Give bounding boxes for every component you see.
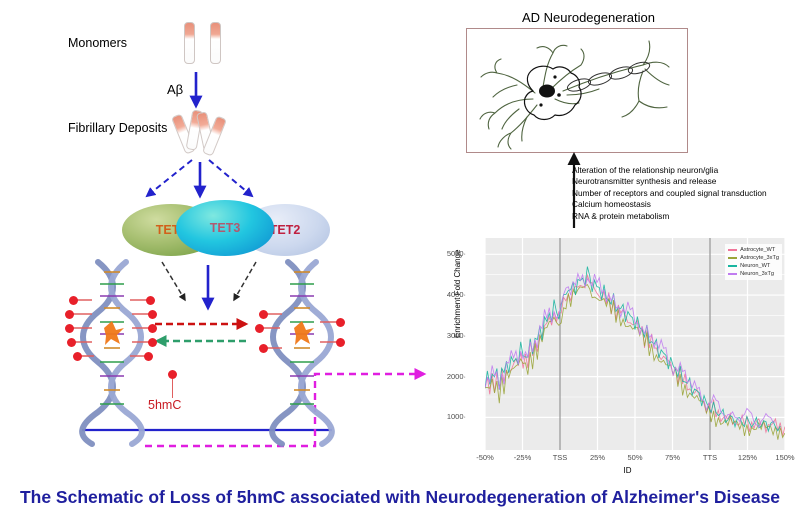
- y-tick-label: 2000·: [447, 372, 466, 381]
- fibril-to-tet2-arrow: [209, 160, 252, 196]
- y-tick-label: 5000·: [447, 249, 466, 258]
- list-item: Calcium homeostasis: [572, 199, 767, 210]
- hmc-dot: [336, 338, 345, 347]
- tet2-label: TET2: [270, 223, 301, 237]
- enrichment-chart: Enrichment Fold Change ID Astrocyte_WTAs…: [455, 230, 800, 480]
- dna-helix-right: [272, 262, 332, 444]
- x-tick-label: 75%: [665, 453, 680, 462]
- x-tick-label: TSS: [553, 453, 568, 462]
- figure-caption: The Schematic of Loss of 5hmC associated…: [0, 487, 800, 508]
- x-tick-label: 150%: [775, 453, 794, 462]
- hmc-dot: [148, 324, 157, 333]
- hmc-legend-label: 5hmC: [148, 398, 181, 412]
- list-item: Number of receptors and coupled signal t…: [572, 188, 767, 199]
- legend-item[interactable]: Neuron_3xTg: [728, 270, 779, 278]
- neuron-image-box: [466, 28, 688, 153]
- tet2-down-arrow: [234, 262, 256, 300]
- hmc-dot: [259, 344, 268, 353]
- chart-x-axis-label: ID: [455, 466, 800, 475]
- hmc-dot: [148, 310, 157, 319]
- hmc-dot: [69, 296, 78, 305]
- x-tick-label: -25%: [514, 453, 532, 462]
- y-tick-label: 4000·: [447, 290, 466, 299]
- ad-neurodegeneration-title: AD Neurodegeneration: [522, 10, 655, 25]
- y-tick-label: 1000·: [447, 412, 466, 421]
- legend-swatch: [728, 257, 737, 259]
- tet3-ellipse: TET3: [176, 200, 274, 256]
- neurodegeneration-effects-list: Alteration of the relationship neuron/gl…: [572, 165, 767, 222]
- chart-plot-area: Astrocyte_WTAstrocyte_3xTgNeuron_WTNeuro…: [485, 238, 785, 450]
- legend-label: Astrocyte_3xTg: [740, 255, 779, 261]
- schematic-panel: Monomers Fibrillary Deposits Aβ: [0, 0, 450, 470]
- dna-helix-left: [82, 262, 142, 444]
- legend-swatch: [728, 273, 737, 275]
- hmc-dot: [148, 338, 157, 347]
- tet3-label: TET3: [210, 221, 241, 235]
- hmc-dot: [259, 310, 268, 319]
- fibril-to-tet1-arrow: [147, 160, 192, 196]
- hmc-dot: [255, 324, 264, 333]
- legend-swatch: [728, 265, 737, 267]
- chart-legend: Astrocyte_WTAstrocyte_3xTgNeuron_WTNeuro…: [725, 244, 782, 280]
- list-item: Neurotransmitter synthesis and release: [572, 176, 767, 187]
- legend-label: Astrocyte_WT: [740, 247, 775, 253]
- x-tick-label: 125%: [738, 453, 757, 462]
- y-tick-label: 3000·: [447, 331, 466, 340]
- nucleus: [539, 85, 555, 98]
- list-item: Alteration of the relationship neuron/gl…: [572, 165, 767, 176]
- x-tick-label: TTS: [703, 453, 717, 462]
- legend-item[interactable]: Neuron_WT: [728, 262, 779, 270]
- tet1-down-arrow: [162, 262, 185, 300]
- hmc-legend-dot: [168, 370, 177, 379]
- hmc-dot: [336, 318, 345, 327]
- x-tick-label: 25%: [590, 453, 605, 462]
- magenta-link-arrow: [145, 374, 424, 446]
- hmc-legend-stem: [172, 379, 174, 398]
- legend-label: Neuron_3xTg: [740, 271, 774, 277]
- x-tick-label: -50%: [476, 453, 494, 462]
- hmc-dot: [67, 338, 76, 347]
- x-tick-label: 50%: [627, 453, 642, 462]
- list-item: RNA & protein metabolism: [572, 211, 767, 222]
- legend-swatch: [728, 249, 737, 251]
- legend-item[interactable]: Astrocyte_3xTg: [728, 254, 779, 262]
- hmc-dot: [73, 352, 82, 361]
- hmc-dot: [144, 352, 153, 361]
- chart-series-line: [485, 274, 775, 428]
- hmc-dot: [146, 296, 155, 305]
- legend-item[interactable]: Astrocyte_WT: [728, 246, 779, 254]
- legend-label: Neuron_WT: [740, 263, 770, 269]
- hmc-dot: [65, 324, 74, 333]
- hmc-dot: [65, 310, 74, 319]
- neuron-illustration: [467, 29, 687, 151]
